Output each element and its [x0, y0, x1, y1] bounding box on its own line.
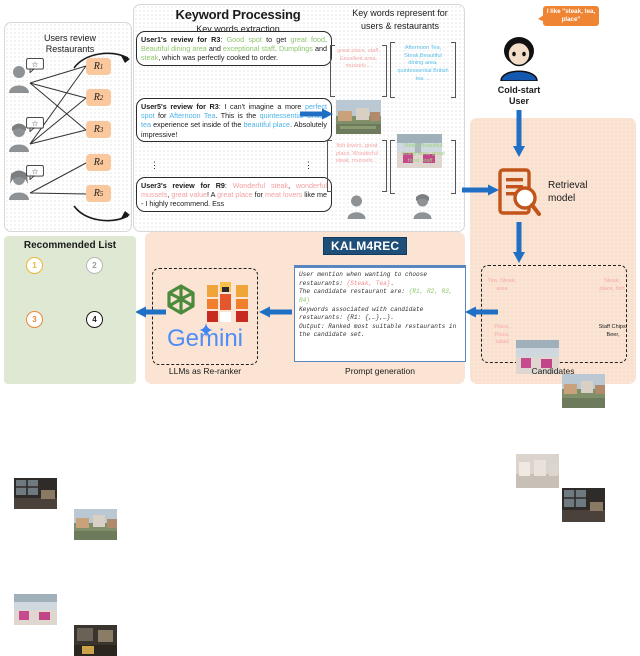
keyword-cluster-user-bottom: fish lovers, great place, Wonderful stea…: [327, 140, 387, 192]
meta-llama-logo-icon: [206, 281, 250, 325]
arrow-reviews-to-keywords: [300, 108, 334, 122]
review-header: User5's review for R3: [141, 102, 219, 111]
prompt-generation-box: User mention when wanting to choose rest…: [294, 265, 466, 362]
restaurant-node-r4[interactable]: R4: [86, 154, 111, 171]
keyword-cluster-user-top: great place, staff, Excellent area, muss…: [330, 45, 387, 97]
keyword-cluster-text: fish lovers, great place, Wonderful stea…: [332, 142, 382, 167]
coldstart-user-avatar: [495, 35, 543, 83]
recommended-photo-1: [14, 478, 57, 509]
prompt-line-1: User mention when wanting to choose rest…: [299, 271, 461, 288]
review-star-icon-2: ☆: [26, 117, 44, 134]
restaurant-node-sub: 1: [100, 63, 104, 71]
svg-text:☆: ☆: [32, 167, 39, 176]
restaurant-node-sub: 4: [100, 159, 104, 167]
arrow-candidates-to-prompt: [466, 306, 498, 320]
diagram-canvas: Users review Restaurants ☆ ☆: [0, 0, 640, 405]
keyword-represent-subtitle-line1: Key words represent for: [338, 8, 462, 18]
recommended-list-title: Recommended List: [4, 240, 136, 251]
cluster-user-avatar-left: [347, 193, 366, 221]
cluster-user-avatar-right: [413, 193, 432, 221]
reviews-ellipsis-right: ⋮: [304, 163, 313, 168]
candidates-caption: Candidates: [481, 366, 625, 376]
keyword-represent-subtitle-line2: users & restaurants: [338, 21, 462, 31]
candidate-label-1: Tea, Steak, area: [486, 277, 518, 294]
restaurant-node-sub: 2: [100, 94, 104, 102]
keyword-cluster-text: Steak, Beautiful dining area, great food…: [395, 142, 451, 167]
restaurant-photo-cluster-1: [336, 100, 381, 134]
review-bubble-user1-r3: User1's review for R3: Good spot to get …: [136, 31, 332, 66]
review-star-icon-3: ☆: [26, 165, 44, 182]
review-header: User3's review for R9: [141, 181, 225, 190]
candidate-label-2: Steak, place, fish: [596, 277, 628, 294]
reviews-ellipsis-left: ⋮: [150, 163, 159, 168]
candidate-photo-3: [516, 454, 559, 488]
prompt-generation-caption: Prompt generation: [294, 366, 466, 376]
restaurant-node-sub: 5: [100, 190, 104, 198]
rank-badge-label: 1: [32, 261, 36, 270]
keyword-cluster-restaurant-top: Afternoon Tea, Steak,Beautiful dining ar…: [390, 42, 456, 98]
keyword-cluster-restaurant-bottom: Steak, Beautiful dining area, great food…: [390, 140, 456, 194]
retrieval-model-label-line1: Retrieval: [548, 180, 587, 191]
candidate-label-3: Place, Pizza, salad: [486, 323, 518, 348]
restaurant-node-sub: 3: [100, 126, 104, 134]
retrieval-model-icon: [498, 168, 542, 220]
arrow-retrieval-to-candidates: [513, 222, 525, 266]
rank-badge-1: 1: [26, 257, 43, 274]
coldstart-speech-bubble: I like "steak, tea, place": [543, 6, 599, 26]
gemini-wordmark: Gemini: [160, 327, 250, 351]
arrow-coldstart-to-retrieval: [513, 110, 525, 160]
svg-text:☆: ☆: [32, 119, 39, 128]
openai-logo-icon: [160, 281, 202, 325]
prompt-line-4: Output: Ranked most suitable restaurants…: [299, 323, 461, 340]
keyword-processing-title: Keyword Processing: [133, 7, 343, 22]
prompt-line-3: Keywords associated with candidate resta…: [299, 306, 461, 323]
prompt-line-2: The candidate restaurant are: {R1, R2, R…: [299, 288, 461, 305]
restaurant-node-r1[interactable]: R1: [86, 58, 111, 75]
candidate-label-4: Staff Chips, Beer,: [596, 323, 630, 340]
coldstart-label-line2: User: [490, 96, 548, 106]
arrow-prompt-to-reranker: [258, 306, 292, 320]
restaurant-node-r3[interactable]: R3: [86, 121, 111, 138]
rank-badge-label: 3: [32, 315, 36, 324]
arrow-reranker-to-recommended: [136, 306, 166, 320]
kalm4rec-badge: KALM4REC: [323, 237, 407, 255]
recommended-photo-3: [14, 594, 57, 625]
restaurant-node-r5[interactable]: R5: [86, 185, 111, 202]
recommended-photo-2: [74, 509, 117, 540]
keyword-cluster-text: Afternoon Tea, Steak,Beautiful dining ar…: [395, 44, 451, 85]
candidate-photo-4: [562, 488, 605, 522]
rank-badge-2: 2: [86, 257, 103, 274]
llm-reranker-caption: LLMs as Re-ranker: [150, 366, 260, 376]
recommended-list-panel: [4, 236, 136, 384]
rank-badge-3: 3: [26, 311, 43, 328]
review-star-icon-1: ☆: [26, 58, 44, 75]
bipartite-edges: [24, 60, 128, 222]
retrieval-model-label-line2: model: [548, 193, 575, 204]
review-bubble-user3-r9: User3's review for R9: Wonderful steak, …: [136, 177, 332, 212]
rank-badge-label: 4: [92, 315, 96, 324]
arrow-keywords-to-retrieval: [462, 184, 500, 198]
graph-title-line1: Users review: [30, 33, 110, 43]
svg-text:☆: ☆: [32, 60, 39, 69]
candidate-photo-2: [562, 374, 605, 408]
keyword-cluster-text: great place, staff, Excellent area, muss…: [335, 47, 382, 72]
recommended-photo-4: [74, 625, 117, 656]
rank-badge-label: 2: [92, 261, 96, 270]
review-header: User1's review for R3: [141, 35, 220, 44]
restaurant-node-r2[interactable]: R2: [86, 89, 111, 106]
rank-badge-4: 4: [86, 311, 103, 328]
coldstart-label-line1: Cold-start: [490, 85, 548, 95]
